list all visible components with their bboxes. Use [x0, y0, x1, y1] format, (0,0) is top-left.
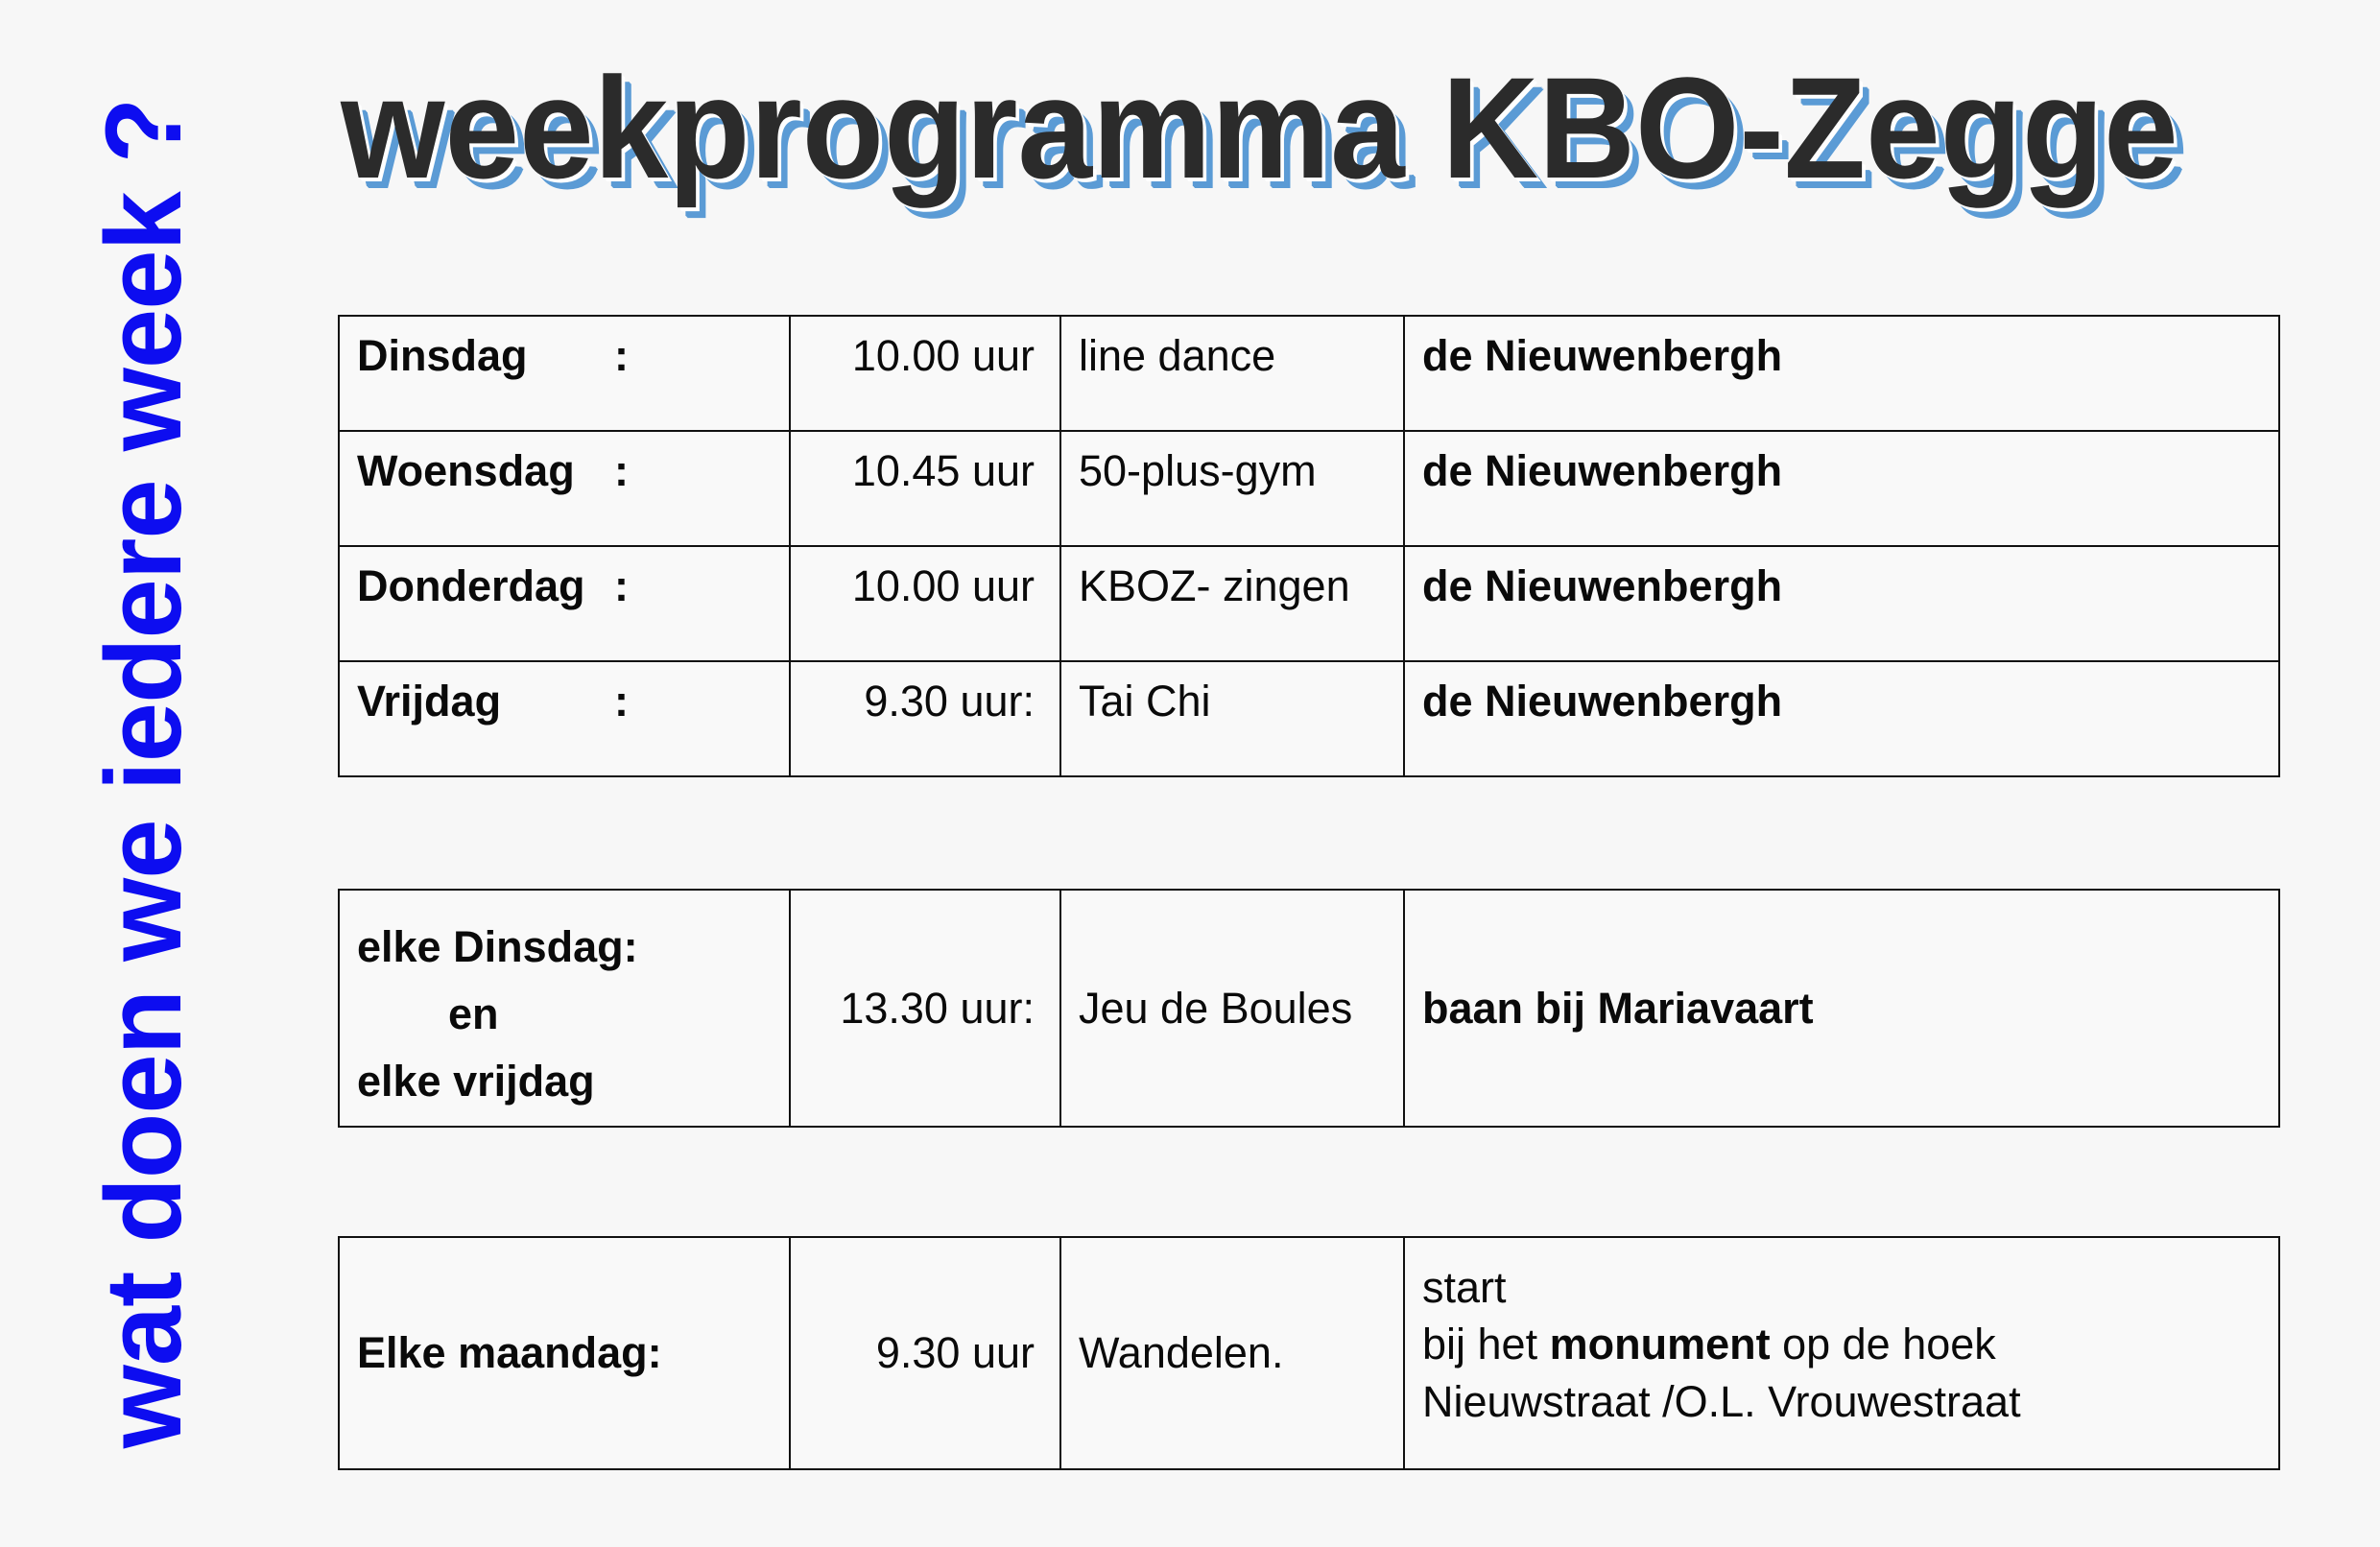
table-row: elke Dinsdag: en elke vrijdag 13.30 uur:… [339, 890, 2279, 1127]
time-label: 10.00 uur [791, 317, 1059, 381]
day-label: Elke maandag: [340, 1327, 789, 1378]
table-row: Donderdag : 10.00 uur KBOZ- zingen de Ni… [339, 546, 2279, 661]
location-label: de Nieuwenbergh [1405, 432, 2278, 496]
cell-location: start bij het monument op de hoek Nieuws… [1404, 1237, 2279, 1469]
walk-location-suffix: op de hoek [1771, 1320, 1996, 1368]
cell-activity: KBOZ- zingen [1060, 546, 1404, 661]
cell-time: 10.45 uur [790, 431, 1060, 546]
time-label: 9.30 uur: [791, 662, 1059, 726]
walk-location-prefix: bij het [1422, 1320, 1550, 1368]
cell-location: de Nieuwenbergh [1404, 546, 2279, 661]
activity-label: Tai Chi [1061, 662, 1403, 726]
day-label: Vrijdag [357, 676, 614, 726]
cell-location: de Nieuwenbergh [1404, 431, 2279, 546]
cell-day: Vrijdag : [339, 661, 790, 776]
cell-day: Elke maandag: [339, 1237, 790, 1469]
location-label: de Nieuwenbergh [1405, 547, 2278, 611]
walk-location-line-2: bij het monument op de hoek [1422, 1316, 2261, 1372]
page-title: weekprogramma KBO-Zegge [341, 56, 2179, 200]
weekly-schedule-table: Dinsdag : 10.00 uur line dance de Nieuwe… [338, 315, 2280, 777]
cell-day: Dinsdag : [339, 316, 790, 431]
cell-day: Donderdag : [339, 546, 790, 661]
time-label: 10.00 uur [791, 547, 1059, 611]
cell-location: de Nieuwenbergh [1404, 316, 2279, 431]
time-label: 10.45 uur [791, 432, 1059, 496]
table-row: Vrijdag : 9.30 uur: Tai Chi de Nieuwenbe… [339, 661, 2279, 776]
cell-day: Woensdag : [339, 431, 790, 546]
day-colon: : [614, 445, 629, 496]
activity-label: KBOZ- zingen [1061, 547, 1403, 611]
table-row: Elke maandag: 9.30 uur Wandelen. start b… [339, 1237, 2279, 1469]
cell-activity: line dance [1060, 316, 1404, 431]
boules-schedule-table: elke Dinsdag: en elke vrijdag 13.30 uur:… [338, 889, 2280, 1128]
table-row: Woensdag : 10.45 uur 50-plus-gym de Nieu… [339, 431, 2279, 546]
day-colon: : [614, 676, 629, 726]
day-label: Woensdag [357, 445, 614, 496]
time-label: 9.30 uur [791, 1327, 1059, 1378]
activity-label: Jeu de Boules [1061, 983, 1403, 1034]
cell-activity: Tai Chi [1060, 661, 1404, 776]
cell-time: 9.30 uur: [790, 661, 1060, 776]
activity-label: Wandelen. [1061, 1327, 1403, 1378]
page-title-wrapper: weekprogramma KBO-Zegge [341, 56, 2318, 219]
location-label: de Nieuwenbergh [1405, 317, 2278, 381]
table-row: Dinsdag : 10.00 uur line dance de Nieuwe… [339, 316, 2279, 431]
cell-activity: 50-plus-gym [1060, 431, 1404, 546]
side-question-text: wat doen we iedere week ? [90, 99, 198, 1449]
activity-label: 50-plus-gym [1061, 432, 1403, 496]
cell-activity: Jeu de Boules [1060, 890, 1404, 1127]
side-question-banner: wat doen we iedere week ? [0, 0, 288, 1547]
walk-schedule-table: Elke maandag: 9.30 uur Wandelen. start b… [338, 1236, 2280, 1470]
cell-time: 13.30 uur: [790, 890, 1060, 1127]
boules-day-line-1: elke Dinsdag: [357, 922, 638, 971]
cell-time: 10.00 uur [790, 316, 1060, 431]
cell-day: elke Dinsdag: en elke vrijdag [339, 890, 790, 1127]
walk-location-line-1: start [1422, 1259, 2261, 1316]
location-label: baan bij Mariavaart [1405, 983, 2278, 1034]
walk-location-bold: monument [1550, 1320, 1771, 1368]
day-label: Donderdag [357, 560, 614, 611]
boules-day-line-2: en [357, 981, 772, 1048]
boules-day-line-3: elke vrijdag [357, 1057, 595, 1106]
walk-location-line-3: Nieuwstraat /O.L. Vrouwestraat [1422, 1373, 2261, 1430]
location-label: de Nieuwenbergh [1405, 662, 2278, 726]
day-colon: : [614, 560, 629, 611]
time-label: 13.30 uur: [791, 983, 1059, 1034]
cell-activity: Wandelen. [1060, 1237, 1404, 1469]
cell-time: 10.00 uur [790, 546, 1060, 661]
cell-time: 9.30 uur [790, 1237, 1060, 1469]
activity-label: line dance [1061, 317, 1403, 381]
day-label: Dinsdag [357, 330, 614, 381]
day-colon: : [614, 330, 629, 381]
cell-location: baan bij Mariavaart [1404, 890, 2279, 1127]
cell-location: de Nieuwenbergh [1404, 661, 2279, 776]
